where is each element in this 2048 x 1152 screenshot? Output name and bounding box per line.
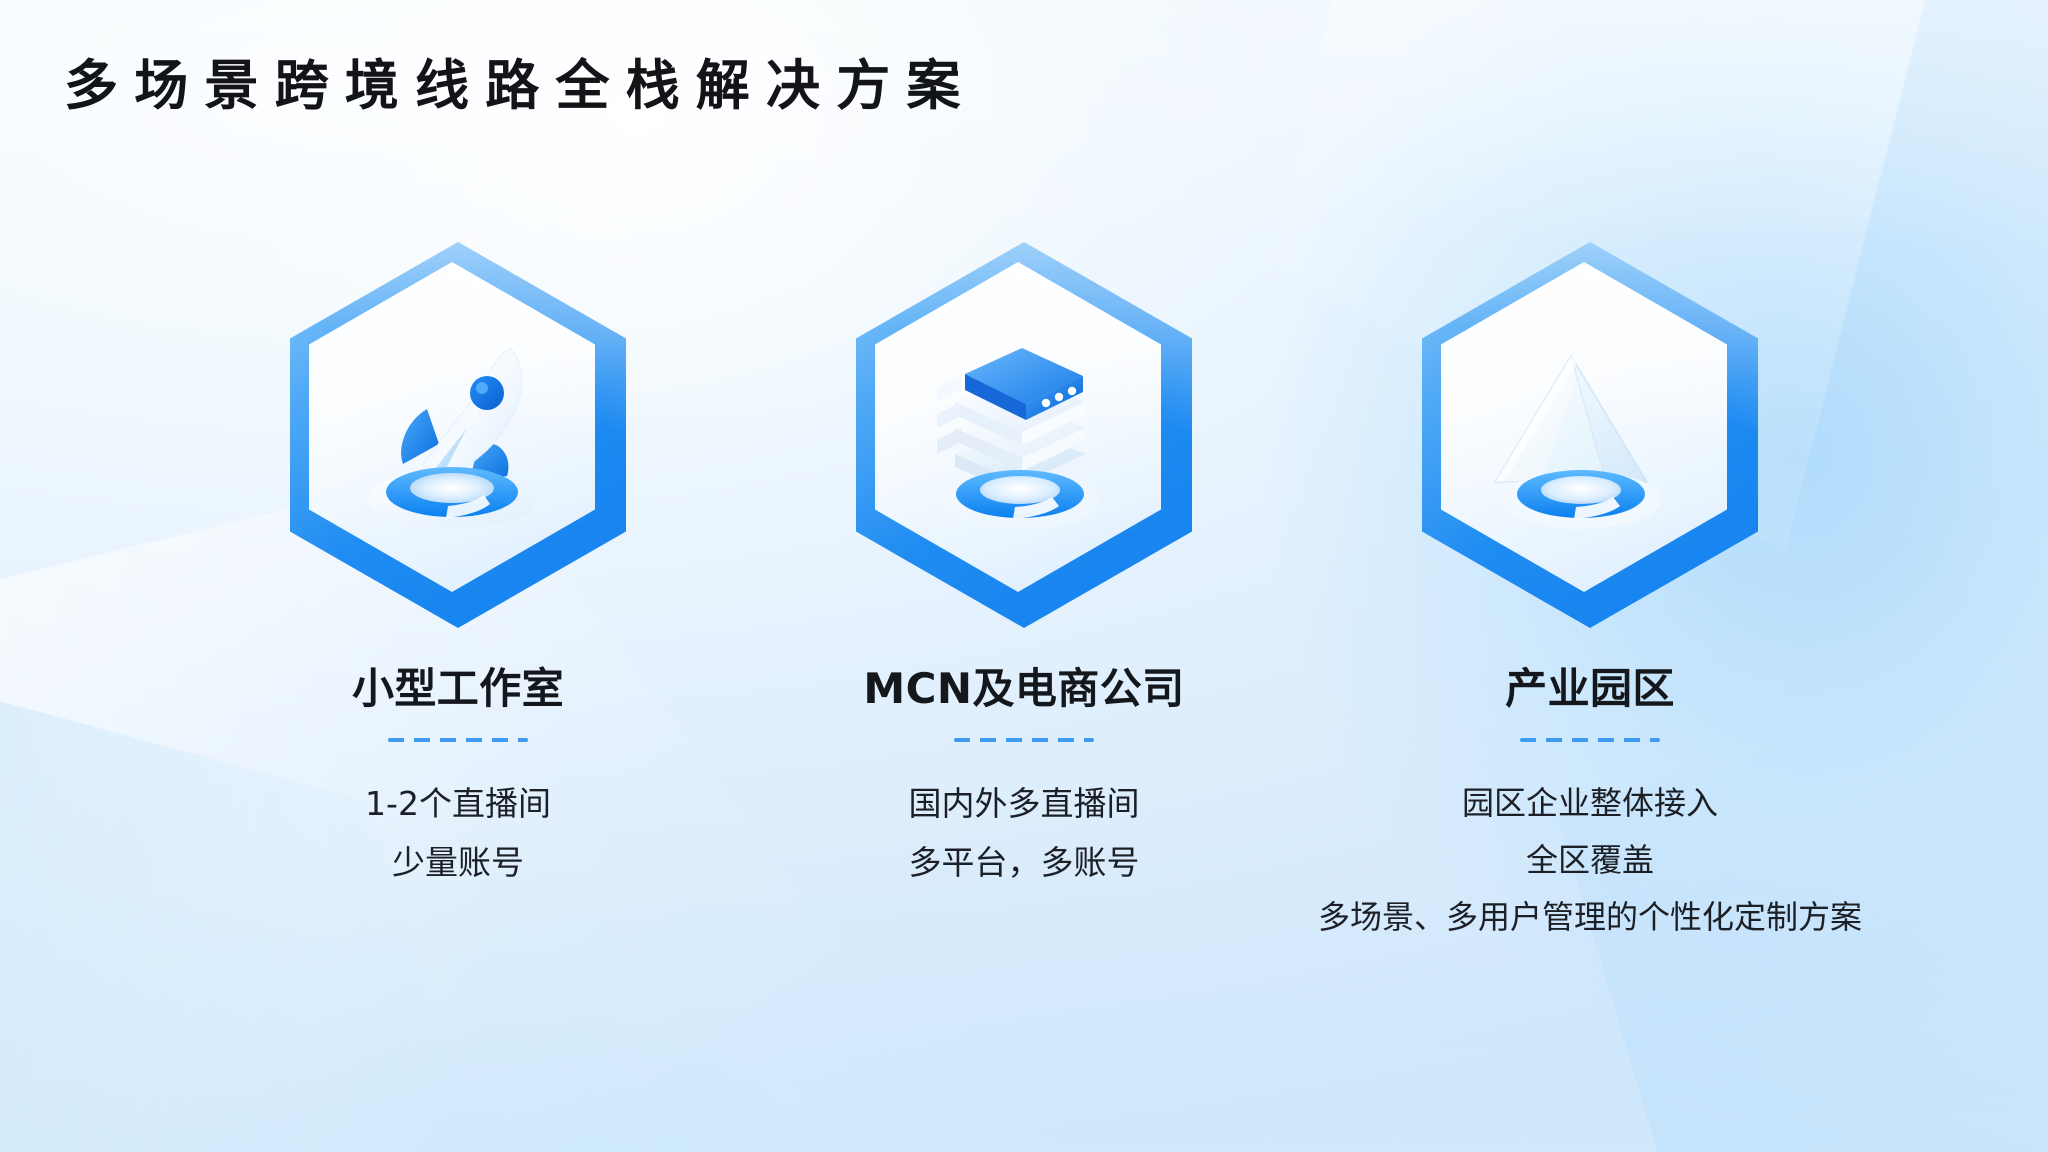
card-description: 园区企业整体接入 全区覆盖 多场景、多用户管理的个性化定制方案: [1318, 776, 1862, 947]
card-description: 1-2个直播间 少量账号: [365, 776, 551, 894]
card-description-line: 园区企业整体接入: [1318, 776, 1862, 831]
server-stack-icon: [893, 304, 1143, 554]
hexagon-badge: [824, 210, 1224, 660]
glass-pyramid-icon: [1459, 304, 1709, 554]
card-description-line: 多平台，多账号: [909, 835, 1140, 892]
page-title: 多场景跨境线路全栈解决方案: [64, 56, 977, 116]
card-description: 国内外多直播间 多平台，多账号: [909, 776, 1140, 894]
card-description-line: 1-2个直播间: [365, 776, 551, 833]
card-divider: [1520, 738, 1660, 742]
card-description-line: 全区覆盖: [1318, 833, 1862, 888]
rocket-icon: [327, 304, 577, 554]
card-title: 产业园区: [1505, 664, 1675, 714]
solution-card-small-studio[interactable]: 小型工作室 1-2个直播间 少量账号: [223, 210, 693, 894]
solution-card-list: 小型工作室 1-2个直播间 少量账号: [0, 210, 2048, 947]
card-divider: [954, 738, 1094, 742]
card-title: MCN及电商公司: [863, 664, 1184, 714]
card-description-line: 国内外多直播间: [909, 776, 1140, 833]
card-title: 小型工作室: [352, 664, 564, 714]
solution-card-mcn-ecommerce[interactable]: MCN及电商公司 国内外多直播间 多平台，多账号: [789, 210, 1259, 894]
card-description-line: 多场景、多用户管理的个性化定制方案: [1318, 890, 1862, 945]
solution-card-industrial-park[interactable]: 产业园区 园区企业整体接入 全区覆盖 多场景、多用户管理的个性化定制方案: [1355, 210, 1825, 947]
card-divider: [388, 738, 528, 742]
hexagon-badge: [1390, 210, 1790, 660]
card-description-line: 少量账号: [365, 835, 551, 892]
hexagon-badge: [258, 210, 658, 660]
